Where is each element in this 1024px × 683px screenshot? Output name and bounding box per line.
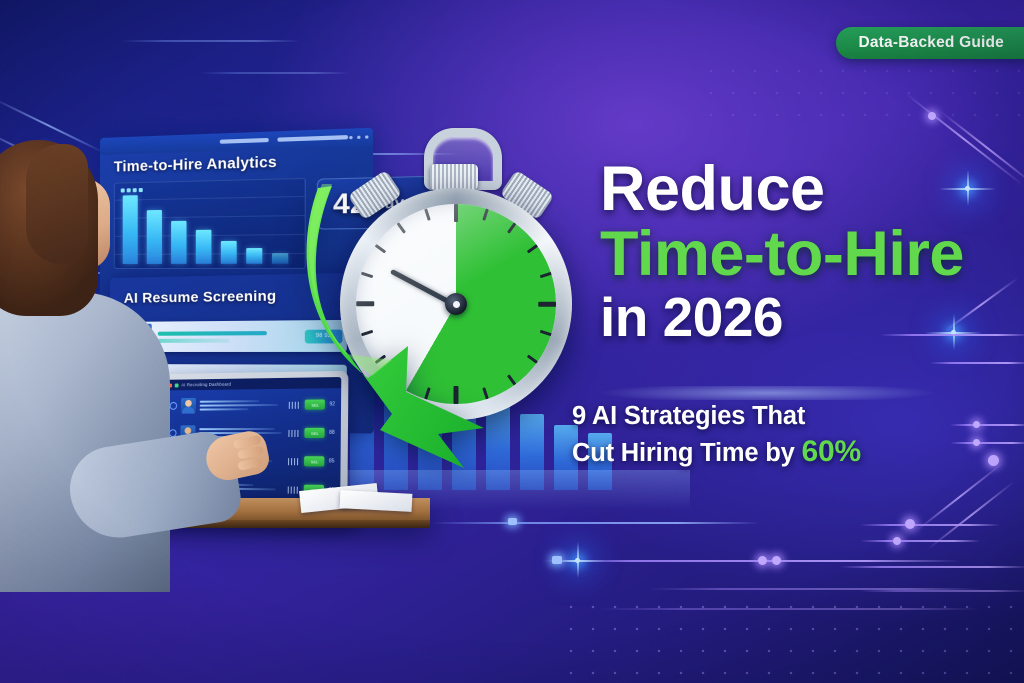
app-icon [175, 383, 179, 387]
person-figure [0, 140, 144, 560]
person-hair-front [26, 144, 88, 264]
divider-glow [556, 386, 1024, 400]
circuit-trace [650, 588, 980, 590]
circuit-node [973, 421, 980, 428]
headline-line-1: Reduce [600, 158, 1010, 221]
resume-panel-title: AI Resume Screening [124, 287, 277, 306]
circuit-node [508, 518, 517, 525]
circuit-trace [930, 362, 1024, 364]
headline-line-3: in 2026 [600, 290, 1010, 345]
circuit-node [552, 556, 562, 564]
circuit-trace [860, 590, 1024, 592]
subtitle-prefix: Cut Hiring Time by [572, 439, 802, 467]
circuit-trace [860, 524, 1000, 526]
subtitle-line-2: Cut Hiring Time by 60% [572, 433, 972, 471]
status-badge: Data-Backed Guide [836, 27, 1024, 59]
circuit-node [905, 519, 915, 529]
circuit-trace [430, 522, 760, 524]
candidate-score-bars [152, 327, 305, 345]
circuit-trace [860, 540, 980, 542]
circuit-trace [927, 480, 1015, 549]
select-icon[interactable] [170, 402, 178, 410]
circuit-node [772, 556, 781, 565]
headline-line-2: Time-to-Hire [600, 223, 1010, 286]
subtitle-block: 9 AI Strategies That Cut Hiring Time by … [572, 400, 972, 471]
circuit-trace [540, 560, 960, 562]
paper-sheet [340, 490, 413, 512]
laptop-window-title: AI Recruiting Dashboard [181, 382, 231, 388]
candidate-avatar [181, 398, 196, 414]
circuit-node [758, 556, 767, 565]
circuit-trace [915, 462, 1003, 531]
circuit-trace [600, 608, 980, 610]
circuit-node [988, 455, 999, 466]
subtitle-line-1: 9 AI Strategies That [572, 400, 972, 433]
candidate-detail-lines [200, 398, 286, 413]
hero-banner: Time-to-Hire Analytics 42 [0, 0, 1024, 683]
glow-node [575, 558, 580, 563]
circuit-node [928, 112, 936, 120]
dot-grid [560, 596, 1024, 683]
badge-label: Data-Backed Guide [858, 34, 1004, 52]
circuit-node [893, 537, 901, 545]
subtitle-stat: 60% [802, 435, 861, 468]
circuit-trace [840, 566, 1024, 568]
dot-grid [700, 60, 1024, 130]
circuit-node [973, 439, 980, 446]
headline-block: Reduce Time-to-Hire in 2026 [600, 158, 1010, 345]
downward-arrow-icon [288, 178, 588, 478]
